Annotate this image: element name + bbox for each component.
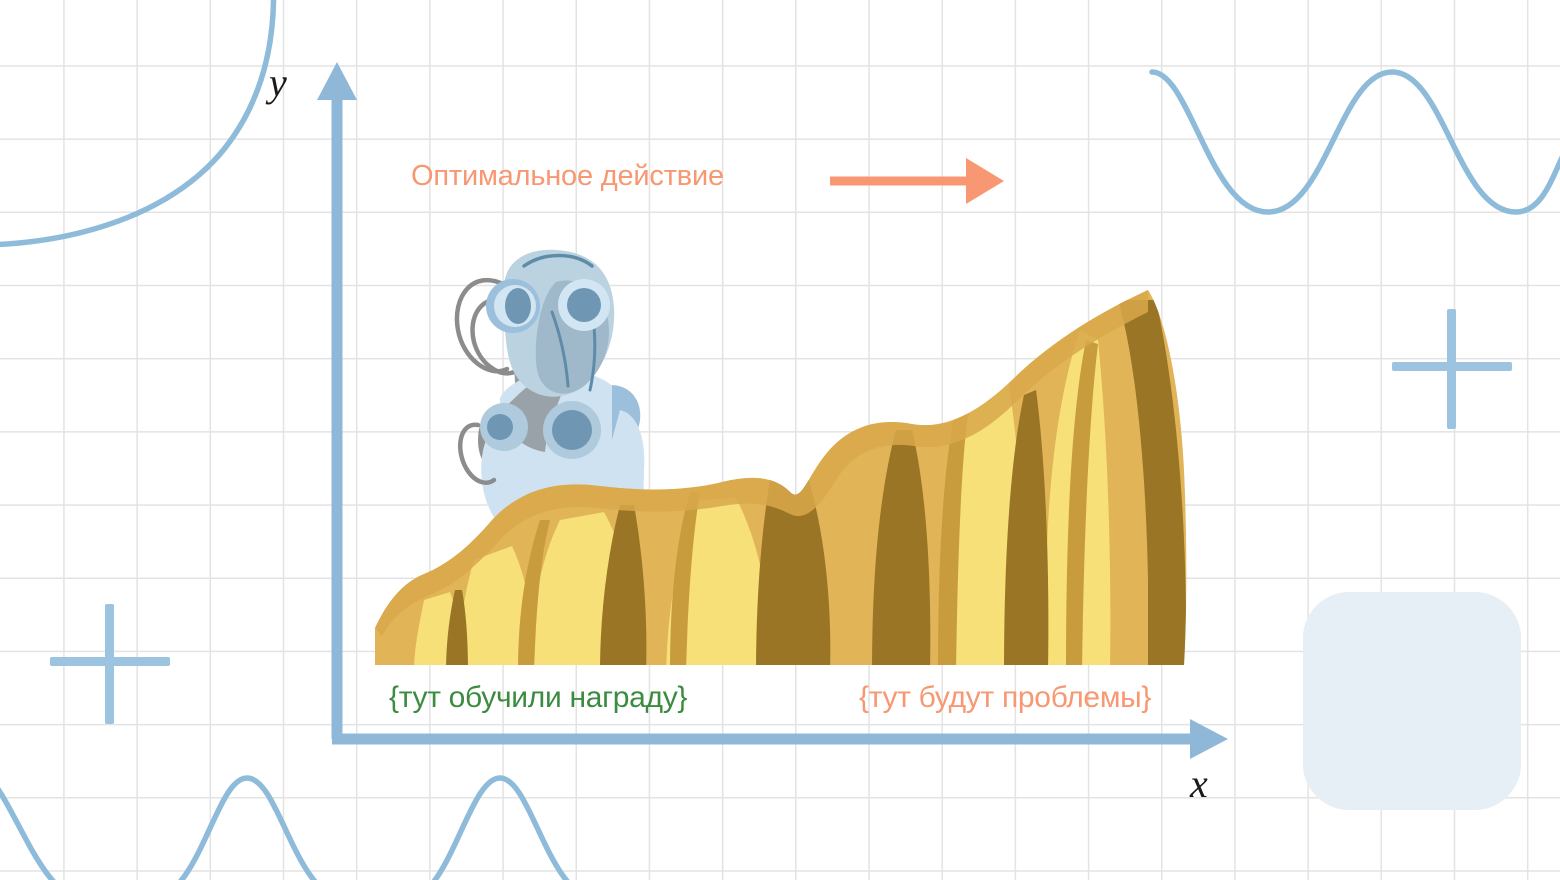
diagram-canvas: Оптимальное действие {тут обучили наград… xyxy=(0,0,1560,880)
y-axis-label: y xyxy=(269,59,287,106)
problems-ahead-label: {тут будут проблемы} xyxy=(859,681,1151,715)
annotation-arrow-layer xyxy=(0,0,1560,880)
optimal-action-arrow-icon xyxy=(830,158,1004,204)
x-axis-label: x xyxy=(1190,760,1208,807)
reward-trained-label: {тут обучили награду} xyxy=(389,681,687,715)
optimal-action-label: Оптимальное действие xyxy=(411,160,724,193)
